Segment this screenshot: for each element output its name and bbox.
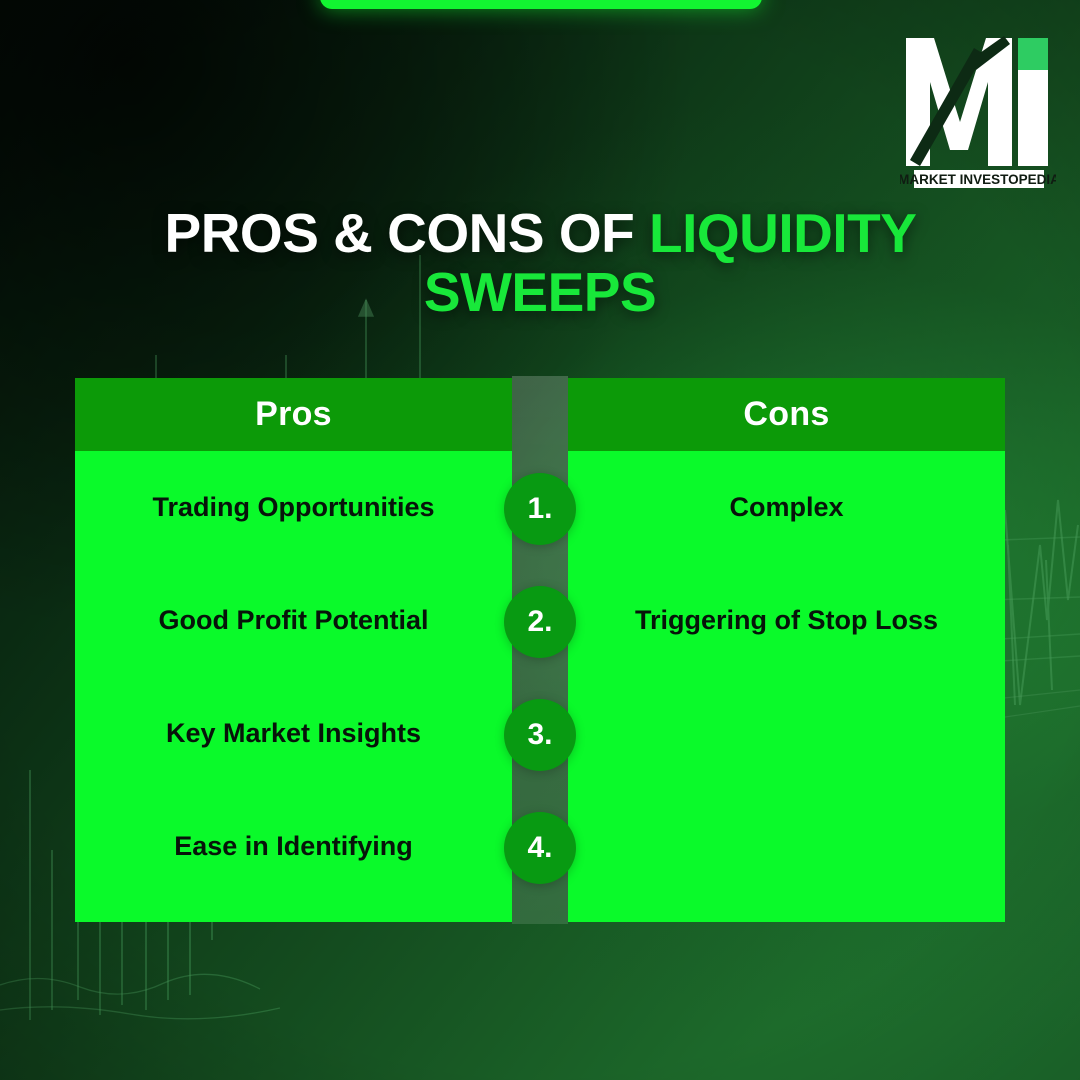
logo-wordmark: MARKET INVESTOPEDIA <box>900 172 1056 187</box>
table-row: Triggering of Stop Loss <box>568 564 1005 677</box>
page-title: PROS & CONS OF LIQUIDITY SWEEPS <box>0 204 1080 323</box>
row-number-badge-1: 1. <box>504 473 576 545</box>
table-row: Trading Opportunities <box>75 451 512 564</box>
market-investopedia-logo: MARKET INVESTOPEDIA <box>900 30 1056 190</box>
table-row <box>568 677 1005 790</box>
title-line1-accent: LIQUIDITY <box>649 202 915 264</box>
table-row: Key Market Insights <box>75 677 512 790</box>
row-number-badge-2: 2. <box>504 586 576 658</box>
title-line2-accent: SWEEPS <box>424 261 656 323</box>
top-accent-bar <box>320 0 762 9</box>
pros-cons-table: Pros Trading Opportunities Good Profit P… <box>75 378 1005 922</box>
title-line1-white: PROS & CONS OF <box>165 202 650 264</box>
cons-header: Cons <box>568 378 1005 451</box>
cons-body: Complex Triggering of Stop Loss <box>568 451 1005 922</box>
cons-column: Cons Complex Triggering of Stop Loss <box>568 378 1005 922</box>
pros-header: Pros <box>75 378 512 451</box>
pros-body: Trading Opportunities Good Profit Potent… <box>75 451 512 922</box>
table-row: Good Profit Potential <box>75 564 512 677</box>
pros-column: Pros Trading Opportunities Good Profit P… <box>75 378 512 922</box>
table-row: Complex <box>568 451 1005 564</box>
table-row <box>568 790 1005 903</box>
table-row: Ease in Identifying <box>75 790 512 903</box>
row-number-badge-3: 3. <box>504 699 576 771</box>
row-number-badges: 1. 2. 3. 4. <box>512 451 568 922</box>
row-number-badge-4: 4. <box>504 812 576 884</box>
